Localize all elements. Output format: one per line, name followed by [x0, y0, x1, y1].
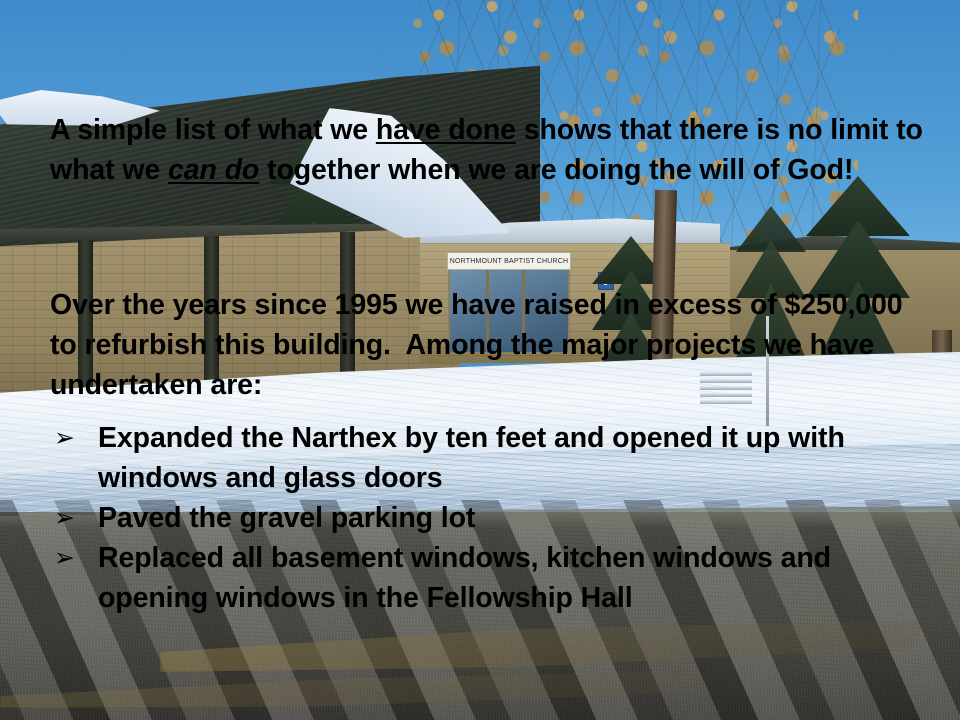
bullet-list: ➢ Expanded the Narthex by ten feet and o… [50, 418, 940, 618]
list-item-label: Paved the gravel parking lot [98, 498, 940, 538]
arrowhead-bullet-icon: ➢ [50, 498, 98, 538]
intro-text-part-1: A simple list of what we [50, 114, 376, 146]
list-item: ➢ Replaced all basement windows, kitchen… [50, 538, 940, 618]
list-item: ➢ Paved the gravel parking lot [50, 498, 940, 538]
list-item-label: Expanded the Narthex by ten feet and ope… [98, 418, 940, 498]
slide: NORTHMOUNT BAPTIST CHURCH A simple list … [0, 0, 960, 720]
list-item: ➢ Expanded the Narthex by ten feet and o… [50, 418, 940, 498]
slide-text-layer: A simple list of what we have done shows… [0, 0, 960, 720]
intro-emphasis-have-done: have done [376, 114, 516, 146]
intro-emphasis-can-do: can do [168, 154, 259, 186]
intro-text-part-3: together when we are doing the will of G… [259, 154, 853, 186]
intro-paragraph: A simple list of what we have done shows… [50, 110, 930, 190]
arrowhead-bullet-icon: ➢ [50, 418, 98, 458]
list-item-label: Replaced all basement windows, kitchen w… [98, 538, 940, 618]
body-paragraph: Over the years since 1995 we have raised… [50, 285, 930, 405]
arrowhead-bullet-icon: ➢ [50, 538, 98, 578]
